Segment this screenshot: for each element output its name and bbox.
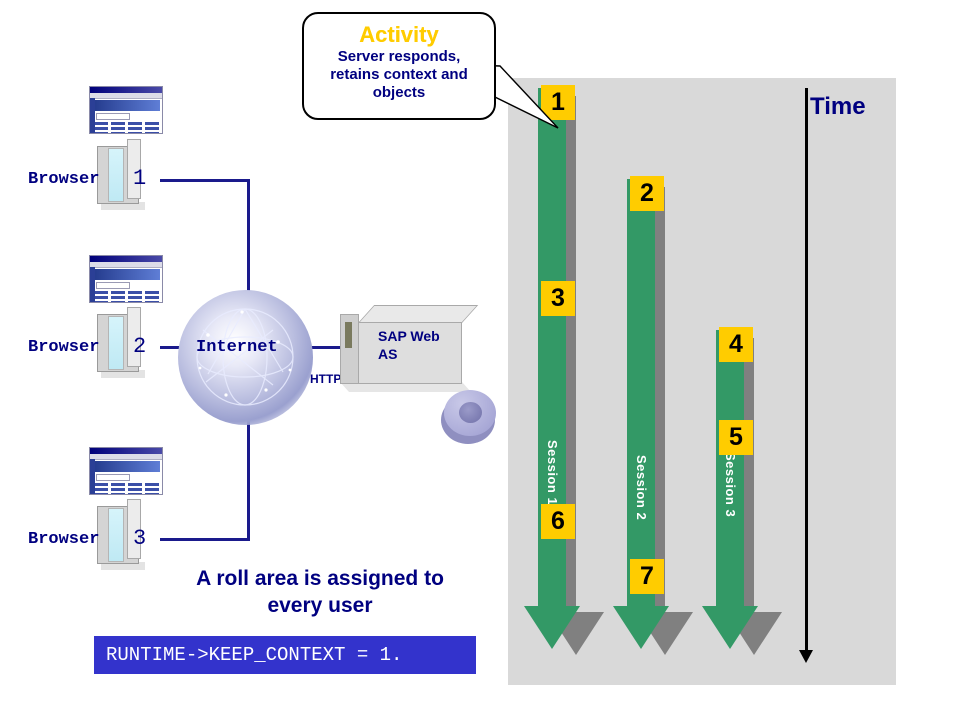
server-label-line-1: SAP Web bbox=[378, 327, 448, 345]
browser-2-number: 2 bbox=[133, 334, 146, 359]
badge-3[interactable]: 3 bbox=[541, 281, 575, 316]
activity-callout: Activity Server responds, retains contex… bbox=[302, 12, 496, 120]
roll-area-note-line-1: A roll area is assigned to bbox=[150, 565, 490, 592]
badge-5[interactable]: 5 bbox=[719, 420, 753, 455]
browser-1-number: 1 bbox=[133, 166, 146, 191]
time-axis-label: Time bbox=[810, 93, 866, 121]
badge-7[interactable]: 7 bbox=[630, 559, 664, 594]
internet-label: Internet bbox=[196, 338, 278, 357]
time-axis-arrowhead bbox=[799, 650, 813, 663]
disk-storage-icon bbox=[438, 388, 498, 444]
browser-3-label: Browser bbox=[28, 530, 99, 549]
callout-body-line-3: objects bbox=[310, 84, 488, 102]
roll-area-note-line-2: every user bbox=[150, 592, 490, 619]
callout-body-line-2: retains context and bbox=[310, 66, 488, 84]
time-axis-line bbox=[805, 88, 808, 654]
http-label: HTTP bbox=[310, 372, 341, 386]
badge-2[interactable]: 2 bbox=[630, 176, 664, 211]
session-2-arrowhead bbox=[613, 606, 669, 649]
browser-1-label: Browser bbox=[28, 170, 99, 189]
session-1-arrowhead bbox=[524, 606, 580, 649]
session-2-label: Session 2 bbox=[634, 455, 649, 520]
browser-window-icon-1 bbox=[89, 86, 163, 134]
server-label-line-2: AS bbox=[378, 345, 448, 363]
diagram-canvas: Session 1 1 3 6 Session 2 2 7 Session 3 … bbox=[0, 0, 960, 720]
browser-2-label: Browser bbox=[28, 338, 99, 357]
badge-6[interactable]: 6 bbox=[541, 504, 575, 539]
session-3-label: Session 3 bbox=[723, 452, 738, 517]
callout-body-line-1: Server responds, bbox=[310, 48, 488, 66]
session-1-label: Session 1 bbox=[545, 440, 560, 505]
session-2-bar bbox=[627, 179, 655, 608]
browser-3-number: 3 bbox=[133, 526, 146, 551]
roll-area-note: A roll area is assigned to every user bbox=[150, 565, 490, 619]
browser-window-icon-3 bbox=[89, 447, 163, 495]
session-3-arrowhead bbox=[702, 606, 758, 649]
code-snippet-box: RUNTIME->KEEP_CONTEXT = 1. bbox=[94, 636, 476, 674]
badge-4[interactable]: 4 bbox=[719, 327, 753, 362]
browser-window-icon-2 bbox=[89, 255, 163, 303]
wire-browser-3-horizontal bbox=[160, 538, 250, 541]
wire-browser-1-horizontal bbox=[160, 179, 250, 182]
globe-network-icon bbox=[178, 290, 313, 425]
callout-title: Activity bbox=[304, 22, 494, 48]
